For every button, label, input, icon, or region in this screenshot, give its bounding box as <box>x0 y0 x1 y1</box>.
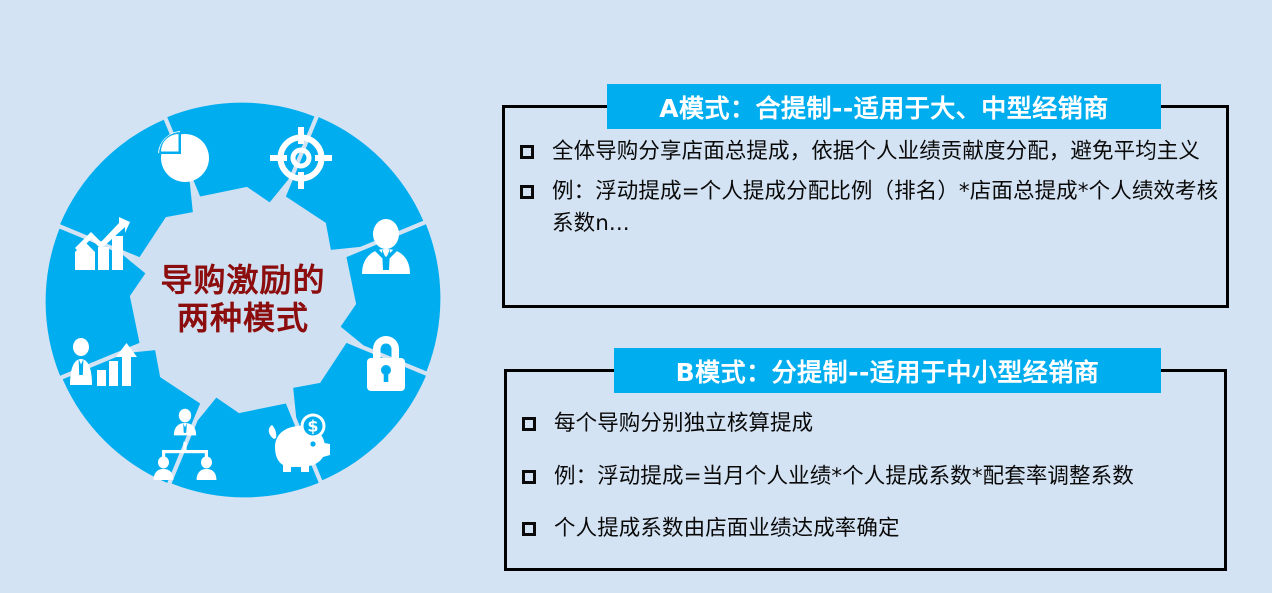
panel-b-body: 每个导购分别独立核算提成 例：浮动提成=当月个人业绩*个人提成系数*配套率调整系… <box>522 408 1222 566</box>
list-item: 全体导购分享店面总提成，依据个人业绩贡献度分配，避免平均主义 <box>520 136 1220 169</box>
list-item-text: 例：浮动提成=个人提成分配比例（排名）*店面总提成*个人绩效考核系数n... <box>552 176 1220 241</box>
list-item: 每个导购分别独立核算提成 <box>522 408 1222 441</box>
square-bullet-icon <box>522 417 536 431</box>
list-item-text: 全体导购分享店面总提成，依据个人业绩贡献度分配，避免平均主义 <box>552 136 1220 169</box>
list-item: 例：浮动提成=当月个人业绩*个人提成系数*配套率调整系数 <box>522 461 1222 494</box>
list-item-text: 个人提成系数由店面业绩达成率确定 <box>554 513 1222 546</box>
square-bullet-icon <box>520 145 534 159</box>
panel-a-body: 全体导购分享店面总提成，依据个人业绩贡献度分配，避免平均主义 例：浮动提成=个人… <box>520 136 1220 248</box>
square-bullet-icon <box>522 470 536 484</box>
panel-b-header: B模式：分提制--适用于中小型经销商 <box>614 348 1161 393</box>
list-item-text: 例：浮动提成=当月个人业绩*个人提成系数*配套率调整系数 <box>554 461 1222 494</box>
panel-a-header: A模式：合提制--适用于大、中型经销商 <box>607 84 1161 129</box>
list-item: 例：浮动提成=个人提成分配比例（排名）*店面总提成*个人绩效考核系数n... <box>520 176 1220 241</box>
list-item-text: 每个导购分别独立核算提成 <box>554 408 1222 441</box>
square-bullet-icon <box>522 522 536 536</box>
list-item: 个人提成系数由店面业绩达成率确定 <box>522 513 1222 546</box>
svg-text:$: $ <box>307 417 318 436</box>
square-bullet-icon <box>520 185 534 199</box>
wheel-svg: $ <box>43 100 443 500</box>
wheel-diagram: $ <box>43 100 443 500</box>
